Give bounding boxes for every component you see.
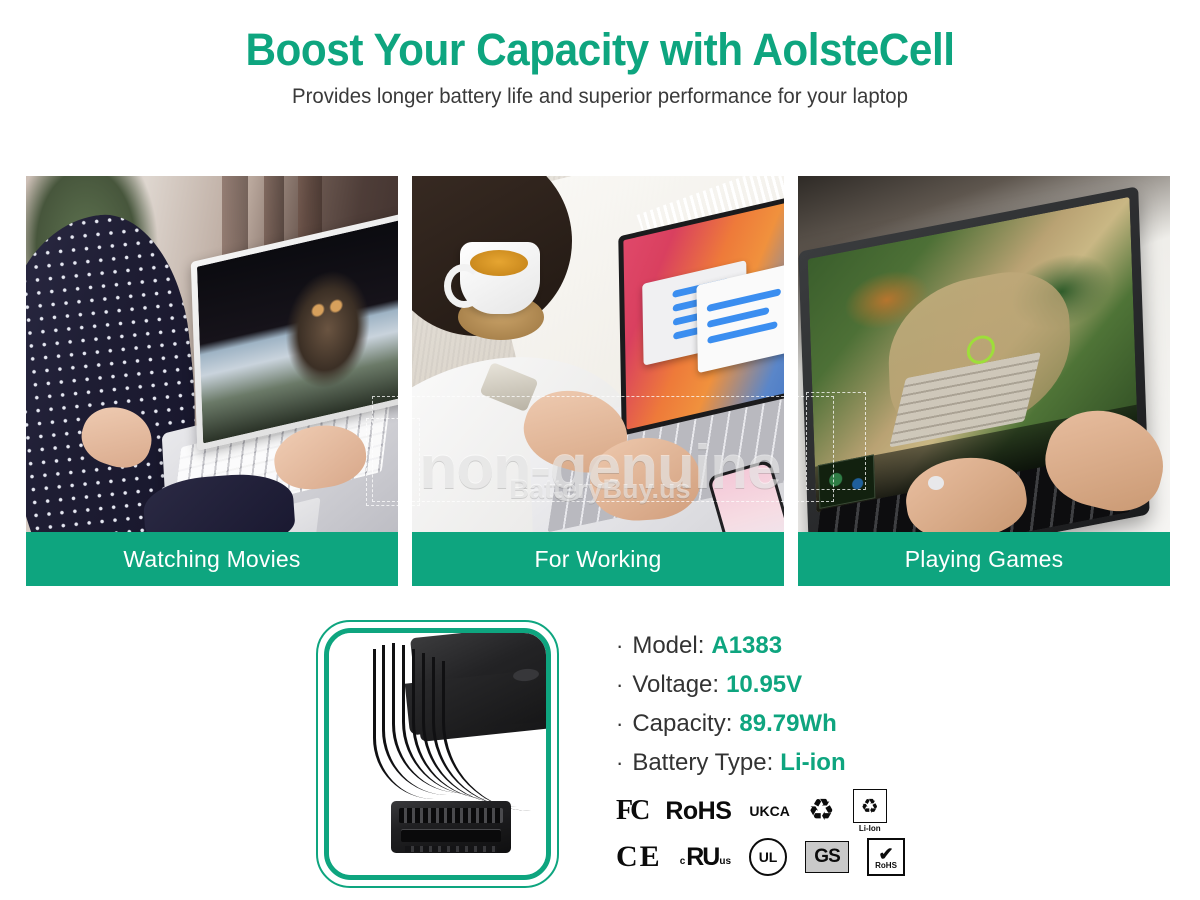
li-ion-recycle-symbol: ♻ — [853, 789, 887, 823]
spec-label: Capacity: — [632, 710, 732, 738]
photo-for-working — [412, 176, 784, 532]
page-subtitle: Provides longer battery life and superio… — [18, 85, 1182, 109]
spec-row-voltage: · Voltage: 10.95V — [616, 671, 946, 699]
product-image-frame — [316, 620, 559, 888]
product-detail-section: · Model: A1383 · Voltage: 10.95V · Capac… — [0, 612, 1200, 900]
spec-row-model: · Model: A1383 — [616, 632, 946, 660]
cruus-icon: c RU us — [680, 847, 731, 867]
ce-icon: CE — [616, 840, 662, 874]
panel-caption: For Working — [412, 532, 784, 586]
use-case-panel-for-working: For Working — [412, 176, 784, 586]
ukca-icon: UK CA — [749, 805, 789, 817]
ukca-line1: UK — [749, 805, 769, 817]
spec-value: 10.95V — [726, 671, 802, 699]
certification-row-2: CE c RU us UL GS ✔ RoHS — [616, 834, 916, 880]
cruus-prefix: c — [680, 856, 686, 867]
spec-value: Li-ion — [780, 749, 845, 777]
cruus-suffix: us — [719, 856, 731, 867]
spec-label: Battery Type: — [632, 749, 773, 777]
bullet-icon: · — [616, 752, 623, 774]
bullet-icon: · — [616, 713, 623, 735]
gs-mark: GS — [805, 841, 849, 873]
page-title: Boost Your Capacity with AolsteCell — [36, 26, 1164, 73]
ul-icon: UL — [749, 838, 787, 876]
photo-watching-movies — [26, 176, 398, 532]
recycle-icon: ♻ — [808, 796, 835, 826]
li-ion-recycle-label: Li-Ion — [859, 824, 881, 833]
ukca-line2: CA — [770, 805, 790, 817]
product-infographic: Boost Your Capacity with AolsteCell Prov… — [0, 0, 1200, 900]
spec-row-battery-type: · Battery Type: Li-ion — [616, 749, 946, 777]
rohs-check-label: RoHS — [875, 862, 897, 870]
cruus-main: RU — [686, 847, 718, 867]
photo-playing-games — [798, 176, 1170, 532]
use-case-panel-playing-games: Playing Games — [798, 176, 1170, 586]
spec-value: A1383 — [711, 632, 782, 660]
li-ion-recycle-icon: ♻ Li-Ion — [853, 789, 887, 833]
ul-mark: UL — [749, 838, 787, 876]
certification-badges: FC RoHS UK CA ♻ ♻ Li-Ion CE c RU us — [616, 788, 916, 880]
certification-row-1: FC RoHS UK CA ♻ ♻ Li-Ion — [616, 788, 916, 834]
panel-caption: Watching Movies — [26, 532, 398, 586]
header: Boost Your Capacity with AolsteCell Prov… — [0, 0, 1200, 109]
spec-row-capacity: · Capacity: 89.79Wh — [616, 710, 946, 738]
bullet-icon: · — [616, 674, 623, 696]
rohs-icon: RoHS — [665, 797, 731, 826]
fcc-icon: FC — [616, 795, 647, 827]
product-image — [329, 633, 546, 875]
bullet-icon: · — [616, 635, 623, 657]
spec-label: Model: — [632, 632, 704, 660]
rohs-checkmark: ✔ — [878, 845, 893, 863]
use-case-panels: Watching Movies — [26, 176, 1174, 586]
spec-label: Voltage: — [632, 671, 719, 699]
use-case-panel-watching-movies: Watching Movies — [26, 176, 398, 586]
rohs-check-icon: ✔ RoHS — [867, 838, 905, 876]
gs-icon: GS — [805, 841, 849, 873]
panel-caption: Playing Games — [798, 532, 1170, 586]
spec-value: 89.79Wh — [739, 710, 836, 738]
spec-list: · Model: A1383 · Voltage: 10.95V · Capac… — [616, 632, 946, 788]
